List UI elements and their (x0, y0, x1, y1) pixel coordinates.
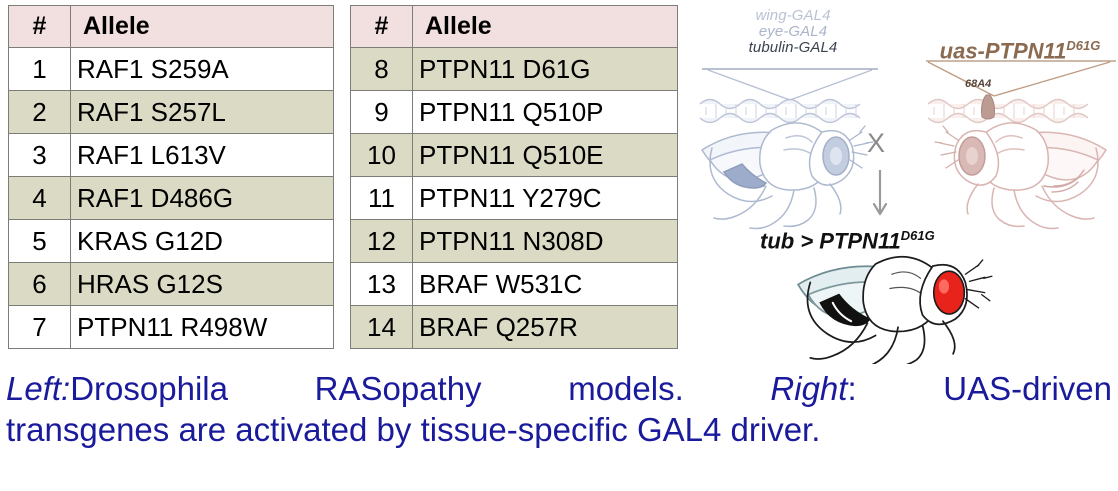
column-header-allele: Allele (413, 6, 678, 48)
table-row: 3RAF1 L613V (9, 134, 334, 177)
cell-number: 8 (351, 48, 413, 91)
cell-allele: PTPN11 Y279C (413, 177, 678, 220)
cell-number: 4 (9, 177, 71, 220)
table-right-body: 8PTPN11 D61G9PTPN11 Q510P10PTPN11 Q510E1… (351, 48, 678, 349)
cell-number: 5 (9, 220, 71, 263)
table-row: 14BRAF Q257R (351, 306, 678, 349)
table-row: 8PTPN11 D61G (351, 48, 678, 91)
cell-number: 13 (351, 263, 413, 306)
fly-offspring (798, 257, 992, 364)
figure-caption: Left:Drosophila RASopathy models. Right:… (6, 368, 1112, 451)
cell-allele: PTPN11 N308D (413, 220, 678, 263)
caption-right-emphasis: Right (770, 370, 847, 407)
label-insertion-site: 68A4 (965, 78, 991, 90)
cell-number: 7 (9, 306, 71, 349)
caption-line-1: Left:Drosophila RASopathy models. Right:… (6, 368, 1112, 409)
uas-label-superscript: D61G (1066, 38, 1100, 53)
table-row: 4RAF1 D486G (9, 177, 334, 220)
cell-allele: PTPN11 D61G (413, 48, 678, 91)
cell-number: 9 (351, 91, 413, 134)
table-right-header-row: # Allele (351, 6, 678, 48)
table-row: 12PTPN11 N308D (351, 220, 678, 263)
cell-allele: RAF1 S257L (71, 91, 334, 134)
column-header-allele: Allele (71, 6, 334, 48)
allele-tables-area: # Allele 1RAF1 S259A2RAF1 S257L3RAF1 L61… (0, 0, 690, 364)
table-row: 1RAF1 S259A (9, 48, 334, 91)
label-offspring-genotype: tub > PTPN11D61G (760, 228, 935, 254)
table-row: 9PTPN11 Q510P (351, 91, 678, 134)
cell-number: 1 (9, 48, 71, 91)
cell-number: 12 (351, 220, 413, 263)
cell-number: 14 (351, 306, 413, 349)
cross-symbol: X (867, 128, 885, 159)
gal4-driver-group (700, 69, 878, 229)
column-header-number: # (9, 6, 71, 48)
cell-allele: HRAS G12S (71, 263, 334, 306)
dna-helix-pink (928, 95, 1088, 123)
offspring-label-main: tub > PTPN11 (760, 228, 901, 253)
cell-allele: RAF1 L613V (71, 134, 334, 177)
cell-allele: PTPN11 Q510E (413, 134, 678, 177)
genetic-cross-diagram: wing-GAL4 eye-GAL4 tubulin-GAL4 uas-PTPN… (690, 0, 1118, 364)
table-right-head: # Allele (351, 6, 678, 48)
table-left-header-row: # Allele (9, 6, 334, 48)
uas-transgene-group (926, 61, 1116, 229)
table-row: 2RAF1 S257L (9, 91, 334, 134)
label-uas-transgene: uas-PTPN11D61G (922, 38, 1118, 64)
column-header-number: # (351, 6, 413, 48)
cell-allele: BRAF W531C (413, 263, 678, 306)
cell-number: 3 (9, 134, 71, 177)
cell-allele: KRAS G12D (71, 220, 334, 263)
cell-number: 2 (9, 91, 71, 134)
gal4-driver-labels: wing-GAL4 eye-GAL4 tubulin-GAL4 (698, 8, 888, 57)
uas-pointer-lines (928, 62, 1110, 96)
label-tubulin-gal4: tubulin-GAL4 (698, 40, 888, 56)
cell-allele: BRAF Q257R (413, 306, 678, 349)
table-left-head: # Allele (9, 6, 334, 48)
fly-driver-blue (702, 123, 873, 229)
allele-table-right: # Allele 8PTPN11 D61G9PTPN11 Q510P10PTPN… (350, 5, 678, 349)
table-row: 10PTPN11 Q510E (351, 134, 678, 177)
insertion-marker (982, 95, 995, 119)
red-eye (934, 271, 965, 314)
fly-uas-pink (935, 123, 1106, 229)
table-row: 5KRAS G12D (9, 220, 334, 263)
cell-number: 6 (9, 263, 71, 306)
allele-table-left: # Allele 1RAF1 S259A2RAF1 S257L3RAF1 L61… (8, 5, 334, 349)
cross-arrow (874, 170, 886, 214)
caption-line-1-text-2: : UAS-driven (847, 370, 1112, 407)
cell-allele: PTPN11 Q510P (413, 91, 678, 134)
table-row: 7PTPN11 R498W (9, 306, 334, 349)
cell-allele: RAF1 S259A (71, 48, 334, 91)
table-left-body: 1RAF1 S259A2RAF1 S257L3RAF1 L613V4RAF1 D… (9, 48, 334, 349)
offspring-label-superscript: D61G (901, 228, 935, 243)
gal4-pointer-lines (708, 70, 872, 100)
cell-allele: RAF1 D486G (71, 177, 334, 220)
dna-helix-blue (700, 100, 860, 123)
cell-number: 10 (351, 134, 413, 177)
cell-allele: PTPN11 R498W (71, 306, 334, 349)
label-wing-gal4: wing-GAL4 (698, 8, 888, 24)
table-row: 6HRAS G12S (9, 263, 334, 306)
cell-number: 11 (351, 177, 413, 220)
table-row: 11PTPN11 Y279C (351, 177, 678, 220)
caption-left-emphasis: Left: (6, 370, 70, 407)
table-row: 13BRAF W531C (351, 263, 678, 306)
caption-line-2: transgenes are activated by tissue-speci… (6, 409, 1112, 450)
caption-line-1-text: Drosophila RASopathy models. (70, 370, 684, 407)
uas-label-main: uas-PTPN11 (940, 38, 1067, 63)
label-eye-gal4: eye-GAL4 (698, 24, 888, 40)
